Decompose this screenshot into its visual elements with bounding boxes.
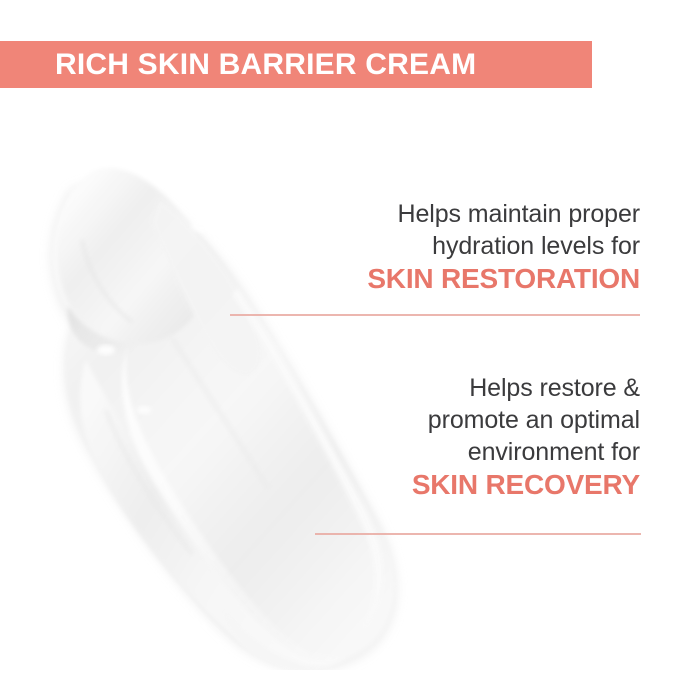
benefit-lead-line: Helps restore & <box>220 372 640 404</box>
benefit-divider-2 <box>315 533 641 535</box>
benefit-block-restoration: Helps maintain proper hydration levels f… <box>220 198 640 296</box>
title-banner: RICH SKIN BARRIER CREAM <box>0 41 592 88</box>
benefit-highlight-restoration: SKIN RESTORATION <box>220 262 640 296</box>
benefit-divider-1 <box>230 314 640 316</box>
page-title: RICH SKIN BARRIER CREAM <box>0 50 476 80</box>
benefit-block-recovery: Helps restore & promote an optimal envir… <box>220 372 640 502</box>
product-infographic: RICH SKIN BARRIER CREAM <box>0 0 700 700</box>
benefit-lead-line: promote an optimal <box>220 404 640 436</box>
benefit-lead-line: environment for <box>220 436 640 468</box>
benefit-lead-line: hydration levels for <box>220 230 640 262</box>
benefit-highlight-recovery: SKIN RECOVERY <box>220 468 640 502</box>
benefit-lead-line: Helps maintain proper <box>220 198 640 230</box>
